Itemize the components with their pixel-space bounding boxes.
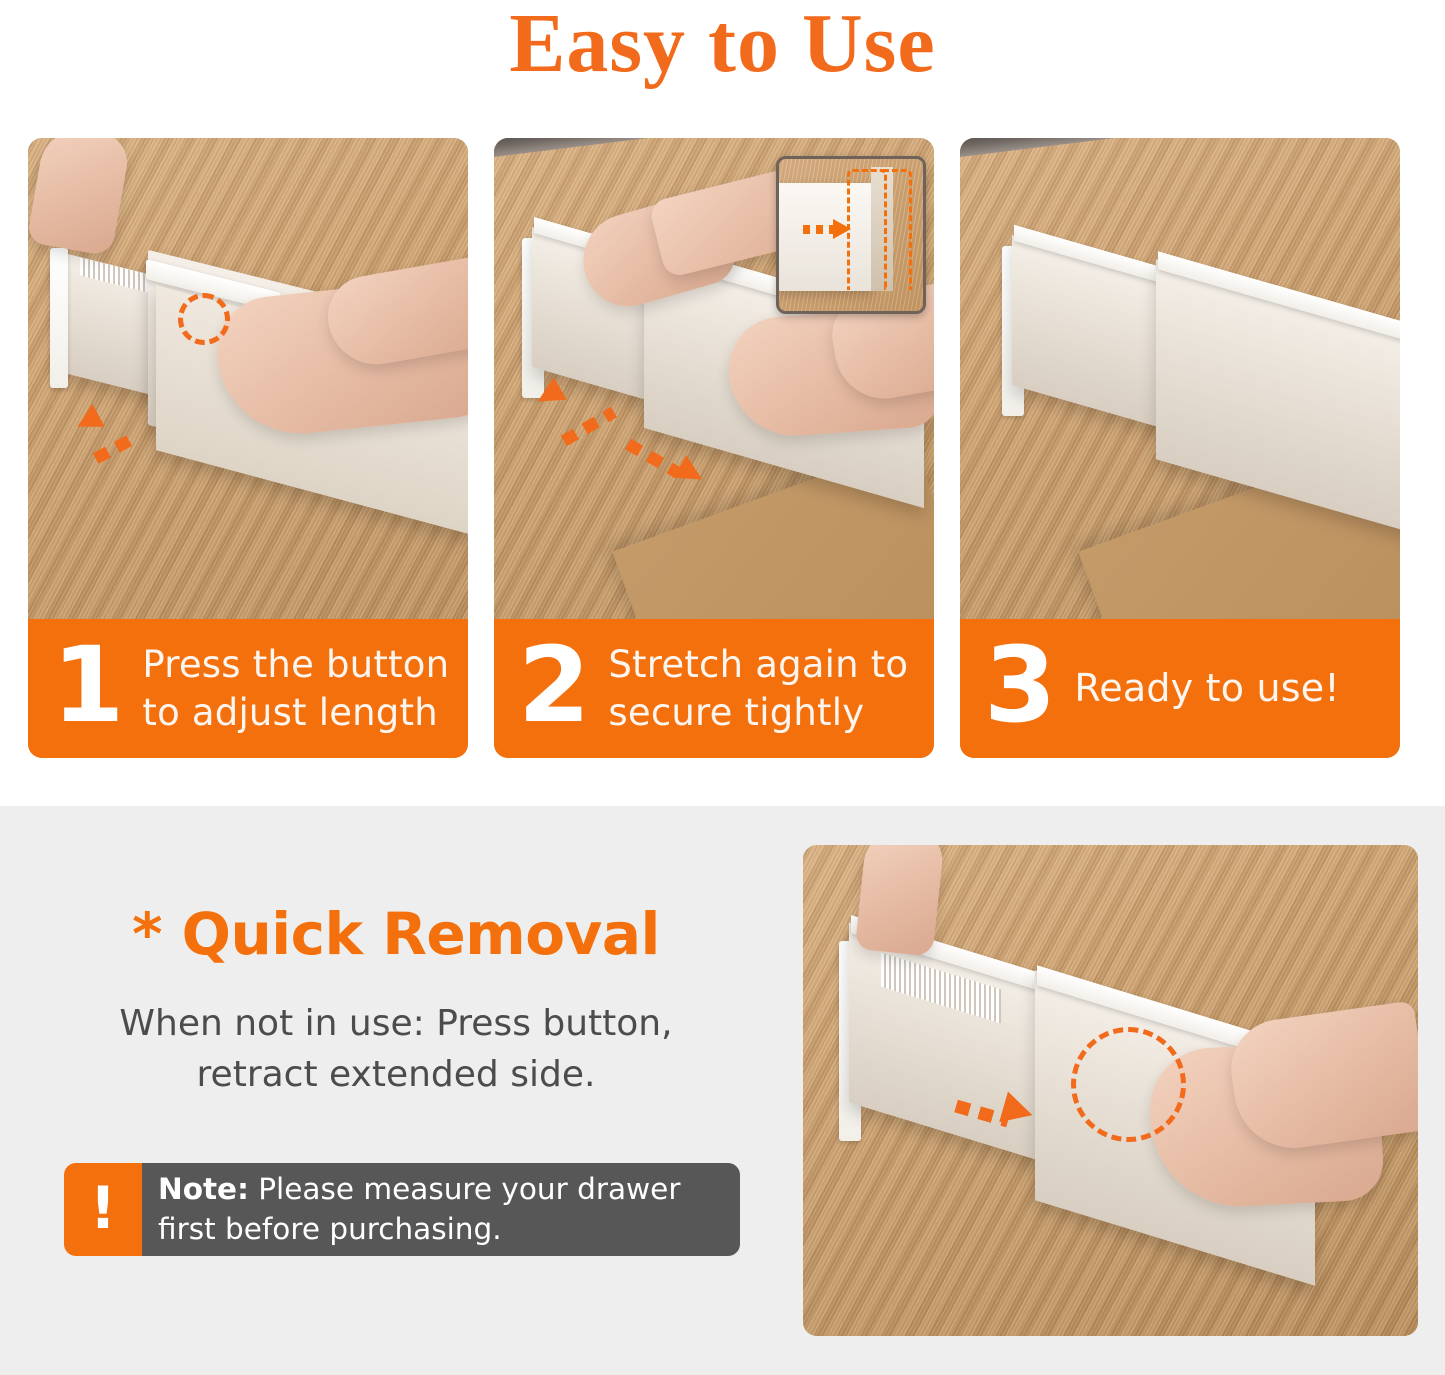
step-3-text: Ready to use!	[1074, 664, 1339, 713]
step-2-caption: 2 Stretch again to secure tightly	[494, 619, 934, 758]
step-3-text-line1: Ready to use!	[1074, 664, 1339, 713]
inset-arrow-head	[833, 219, 851, 239]
step-card-3: 3 Ready to use!	[960, 138, 1400, 758]
exclamation-icon: !	[90, 1179, 116, 1237]
note-badge: !	[64, 1163, 142, 1256]
down-right-dashed-arrow-head	[673, 455, 709, 491]
note-label: Note:	[158, 1172, 249, 1206]
step-1-text-line1: Press the button	[142, 641, 449, 688]
down-right-dashed-arrow-shaft	[625, 439, 681, 478]
inset-dashed-outline-near	[847, 169, 887, 290]
note-box: ! Note: Please measure your drawer first…	[64, 1163, 740, 1256]
release-button-highlight-circle	[1071, 1027, 1186, 1142]
infographic-page: Easy to Use	[0, 0, 1445, 1375]
step-3-number: 3	[984, 639, 1056, 733]
left-dashed-arrow-head	[71, 404, 104, 438]
step-card-2: 2 Stretch again to secure tightly	[494, 138, 934, 758]
divider-left-foot	[50, 248, 68, 388]
step-1-text: Press the button to adjust length	[142, 641, 449, 736]
press-button-highlight-circle	[178, 293, 230, 345]
step-2-text: Stretch again to secure tightly	[608, 641, 908, 736]
left-dashed-arrow-shaft	[93, 431, 141, 464]
step-2-text-line2: secure tightly	[608, 689, 908, 736]
page-title: Easy to Use	[0, 0, 1445, 93]
quick-removal-photo	[803, 845, 1418, 1336]
note-body: Note: Please measure your drawer first b…	[142, 1163, 740, 1256]
hand-left-thumb	[28, 138, 132, 257]
quick-removal-subtitle-line2: retract extended side.	[46, 1049, 746, 1100]
corner-fit-detail-inset	[776, 156, 926, 314]
hand-left-thumb	[855, 845, 946, 957]
step-1-caption: 1 Press the button to adjust length	[28, 619, 468, 758]
quick-removal-subtitle: When not in use: Press button, retract e…	[46, 998, 746, 1100]
note-text: Note: Please measure your drawer first b…	[158, 1170, 726, 1250]
inset-arrow-shaft	[803, 225, 837, 234]
inset-dashed-outline-far	[883, 169, 912, 290]
quick-removal-block: * Quick Removal When not in use: Press b…	[46, 900, 746, 1100]
quick-removal-subtitle-line1: When not in use: Press button,	[46, 998, 746, 1049]
step-2-text-line1: Stretch again to	[608, 641, 908, 688]
step-2-number: 2	[518, 639, 590, 733]
drawer-back-rail	[960, 138, 1215, 158]
steps-row: 1 Press the button to adjust length	[28, 138, 1418, 758]
step-1-number: 1	[52, 639, 124, 733]
quick-removal-title: * Quick Removal	[46, 900, 746, 968]
drawer-back-rail	[494, 138, 749, 158]
up-left-dashed-arrow-shaft	[561, 407, 617, 446]
step-3-caption: 3 Ready to use!	[960, 619, 1400, 758]
step-card-1: 1 Press the button to adjust length	[28, 138, 468, 758]
step-1-text-line2: to adjust length	[142, 689, 449, 736]
